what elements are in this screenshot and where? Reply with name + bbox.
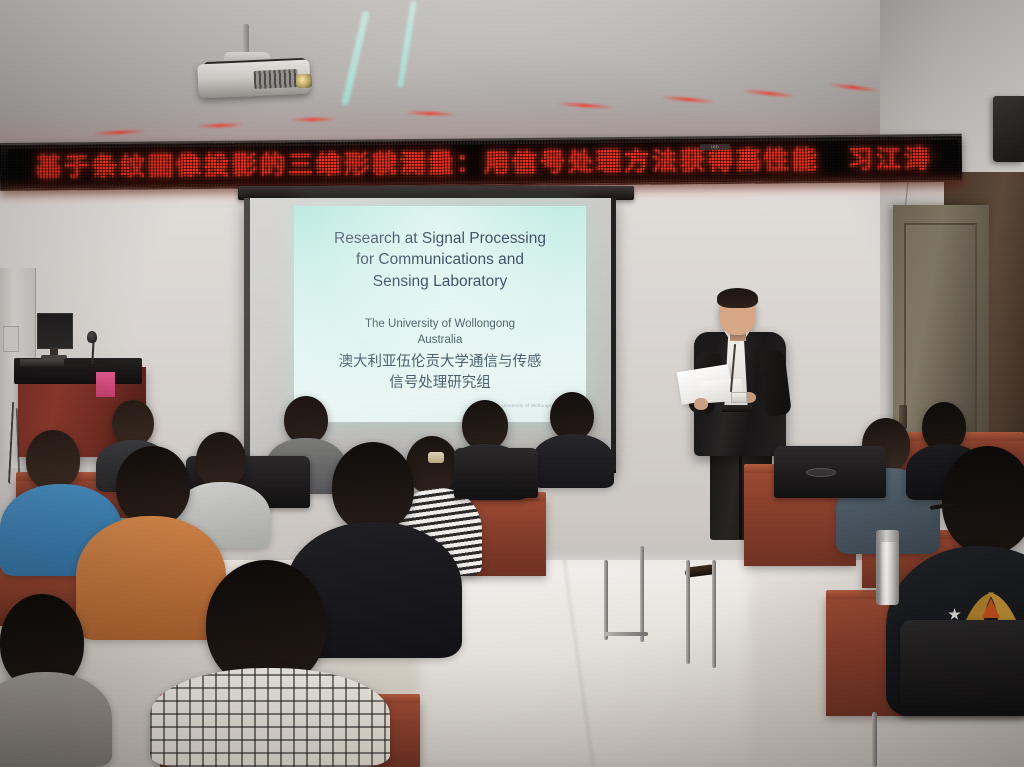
ceiling-red-glint (404, 111, 456, 116)
slide-affiliation-cn-line-1: 澳大利亚伍伦贡大学通信与传感 (294, 352, 586, 373)
ceiling-red-glint (742, 89, 796, 98)
ceiling-red-glint (828, 83, 880, 92)
slide-logo-text: University of Wollongong (501, 403, 557, 408)
presenter-name-badge (731, 392, 747, 403)
podium-monitor (37, 313, 73, 349)
ceiling-red-glint (92, 130, 146, 136)
presenter-leg-seam (739, 455, 742, 539)
hair-clip-icon (428, 452, 444, 463)
attendee-head (550, 392, 594, 440)
led-display-area: 基于条纹图像投影的三维形貌测量：用信号处理方法获得高性能 习江涛 (8, 140, 958, 185)
pink-box-on-lectern (96, 372, 115, 397)
podium-keyboard[interactable] (20, 359, 64, 366)
attendee-body (150, 668, 390, 767)
projected-slide: Research at Signal Processing for Commun… (294, 206, 586, 422)
attendee-body (76, 516, 226, 640)
ceiling-red-glint (196, 123, 244, 128)
stainless-steel-thermos (876, 537, 899, 605)
slide-affiliation-chinese: 澳大利亚伍伦贡大学通信与传感 信号处理研究组 (294, 352, 586, 393)
projector-vent (254, 69, 299, 89)
microphone-icon (87, 331, 97, 343)
jacket-laurel-emblem-icon (964, 590, 1018, 624)
attendee-head (116, 446, 190, 526)
slide-title: Research at Signal Processing for Commun… (294, 228, 586, 292)
ceiling-red-glint (556, 102, 614, 109)
attendee-head (284, 396, 328, 444)
attendee-head (26, 430, 80, 490)
panel-sticker (3, 326, 19, 352)
lecture-hall-photo: 基于条纹图像投影的三维形貌测量：用信号处理方法获得高性能 习江涛 LED Res… (0, 0, 1024, 767)
chair-leg (604, 560, 608, 640)
floor-reflection-sheen (420, 560, 750, 767)
led-banner-text: 基于条纹图像投影的三维形貌测量：用信号处理方法获得高性能 习江涛 (8, 146, 932, 180)
chair-leg (640, 546, 644, 642)
slide-affiliation: The University of Wollongong Australia (294, 316, 586, 349)
slide-affiliation-country: Australia (294, 332, 586, 348)
attendee-head (332, 442, 414, 532)
slide-title-line-2: for Communications and (294, 249, 586, 270)
attendee-head (462, 400, 508, 450)
slide-title-line-1: Research at Signal Processing (294, 228, 586, 249)
attendee-head (942, 446, 1024, 554)
led-banner: 基于条纹图像投影的三维形貌测量：用信号处理方法获得高性能 习江涛 LED (0, 134, 962, 191)
ceiling-red-glint (290, 118, 336, 122)
attendee-body (0, 672, 112, 767)
wall-speaker (993, 96, 1024, 162)
attendee-body (532, 434, 614, 488)
thermos-cap (876, 530, 899, 542)
ceiling-red-glint (660, 96, 716, 104)
chair-back (900, 620, 1024, 716)
slide-affiliation-university: The University of Wollongong (294, 316, 586, 332)
attendee-head (196, 432, 246, 488)
led-brand-tag: LED (700, 144, 730, 150)
slide-affiliation-cn-line-2: 信号处理研究组 (294, 373, 586, 394)
presenter-left-hand (694, 398, 708, 410)
presenter-belt (722, 405, 752, 412)
chair-leg (712, 560, 716, 668)
chair-leg (604, 632, 648, 636)
fluorescent-reflection (397, 0, 417, 88)
projector-lens (296, 74, 313, 89)
fluorescent-reflection (341, 10, 369, 105)
chair-leg (686, 560, 690, 664)
chair-badge (806, 468, 836, 477)
chair-leg (872, 712, 877, 767)
slide-title-line-3: Sensing Laboratory (294, 271, 586, 292)
presenter-hair (717, 288, 758, 308)
chair-back (454, 448, 538, 498)
